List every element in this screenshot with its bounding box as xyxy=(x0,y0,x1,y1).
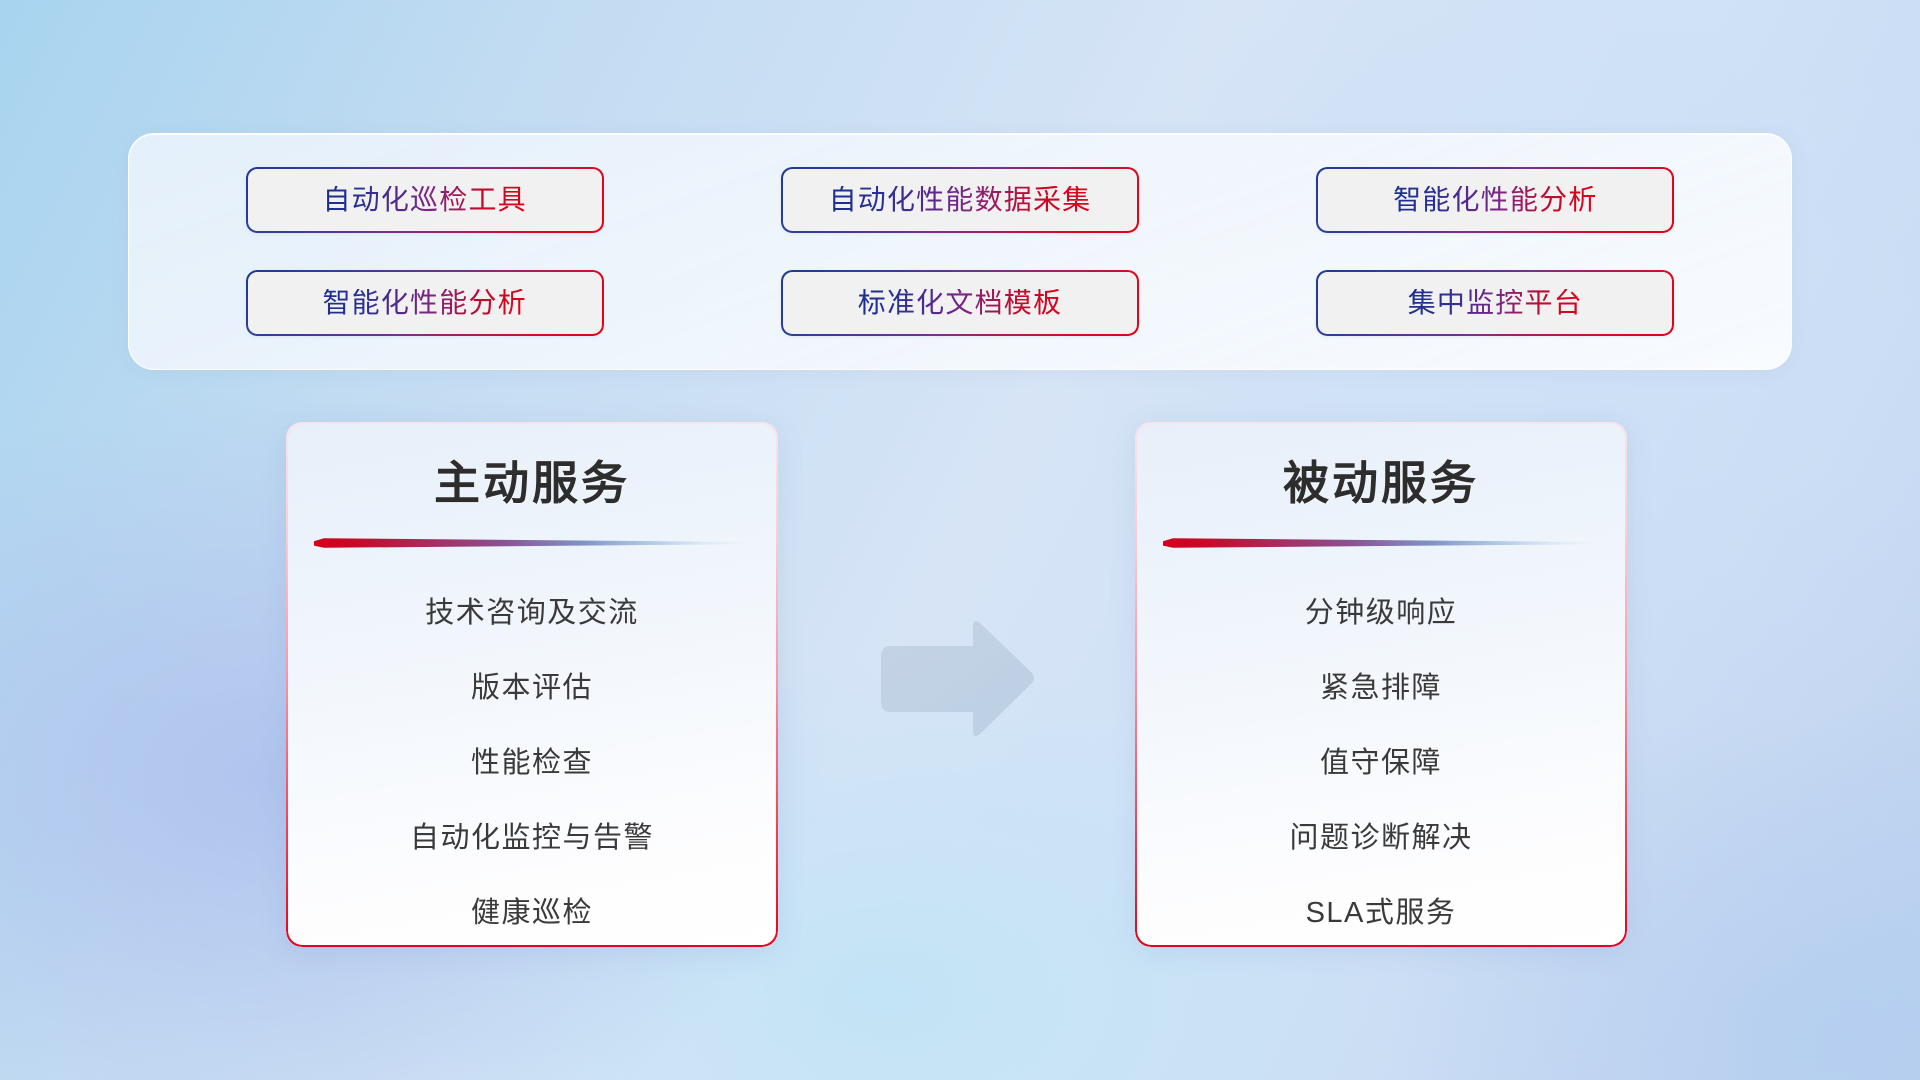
service-list: 技术咨询及交流 版本评估 性能检查 自动化监控与告警 健康巡检 xyxy=(286,576,778,947)
service-card-content: 主动服务 xyxy=(286,422,778,947)
service-list: 分钟级响应 紧急排障 值守保障 问题诊断解决 SLA式服务 xyxy=(1135,576,1627,947)
capability-pill-label: 标准化文档模板 xyxy=(858,289,1062,317)
service-card-title: 被动服务 xyxy=(1283,458,1479,509)
list-item: 版本评估 xyxy=(471,660,593,717)
list-item: SLA式服务 xyxy=(1306,885,1457,942)
title-divider xyxy=(1163,537,1599,550)
capability-pill[interactable]: 集中监控平台 xyxy=(1316,270,1674,336)
capability-pill-label: 智能化性能分析 xyxy=(1393,186,1597,214)
service-card-proactive: 主动服务 xyxy=(286,422,778,947)
list-item: 分钟级响应 xyxy=(1305,585,1458,642)
capability-pill[interactable]: 智能化性能分析 xyxy=(1316,167,1674,233)
title-divider xyxy=(314,537,750,550)
list-item: 紧急排障 xyxy=(1320,660,1442,717)
list-item: 技术咨询及交流 xyxy=(425,585,639,642)
capability-pill[interactable]: 自动化巡检工具 xyxy=(246,167,604,233)
list-item: 值守保障 xyxy=(1320,735,1442,792)
capability-pill-grid: 自动化巡检工具 自动化性能数据采集 智能化性能分析 智能化性能分析 标准化文档模… xyxy=(129,134,1791,369)
service-card-title: 主动服务 xyxy=(434,458,630,509)
flow-arrow-right-icon xyxy=(877,620,1037,740)
service-card-content: 被动服务 xyxy=(1135,422,1627,947)
capability-pill[interactable]: 自动化性能数据采集 xyxy=(781,167,1139,233)
list-item: 自动化监控与告警 xyxy=(410,810,654,867)
capability-panel: 自动化巡检工具 自动化性能数据采集 智能化性能分析 智能化性能分析 标准化文档模… xyxy=(128,133,1792,370)
capability-pill-label: 集中监控平台 xyxy=(1408,289,1583,317)
slide-canvas: 自动化巡检工具 自动化性能数据采集 智能化性能分析 智能化性能分析 标准化文档模… xyxy=(0,0,1920,1080)
list-item: 健康巡检 xyxy=(471,885,593,942)
capability-pill-label: 自动化性能数据采集 xyxy=(829,186,1092,214)
capability-pill[interactable]: 智能化性能分析 xyxy=(246,270,604,336)
list-item: 问题诊断解决 xyxy=(1289,810,1472,867)
capability-pill-label: 智能化性能分析 xyxy=(322,289,526,317)
capability-pill[interactable]: 标准化文档模板 xyxy=(781,270,1139,336)
capability-pill-label: 自动化巡检工具 xyxy=(322,186,526,214)
service-card-reactive: 被动服务 xyxy=(1135,422,1627,947)
list-item: 性能检查 xyxy=(471,735,593,792)
